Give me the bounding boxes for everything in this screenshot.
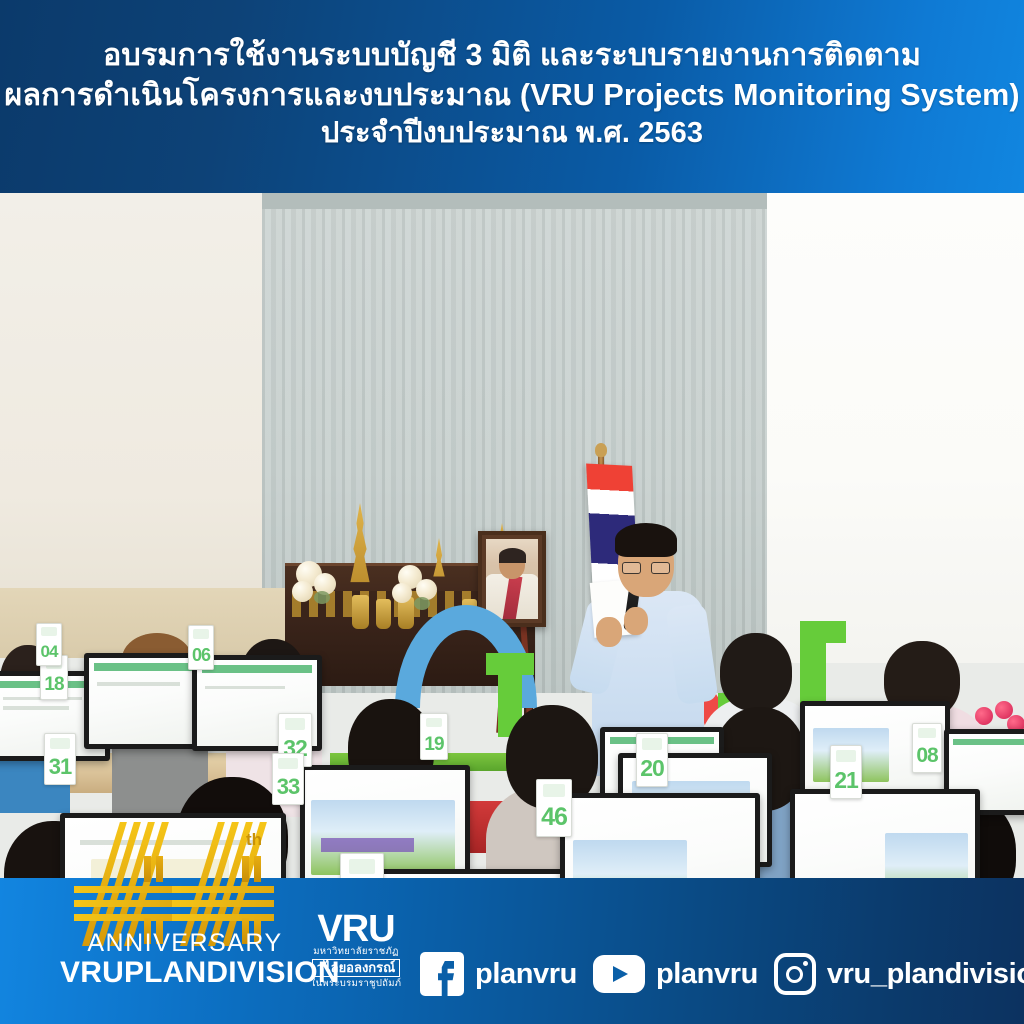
station-number-tag: 31: [44, 733, 76, 785]
screen-header-bar: [202, 665, 312, 673]
gold-offering-vessel: [376, 599, 391, 629]
flag-pole-finial: [595, 443, 607, 457]
foliage: [414, 597, 430, 610]
eyeglass-lens: [622, 562, 641, 574]
social-facebook[interactable]: planvru: [420, 952, 577, 996]
royal-portrait-image: [486, 539, 538, 619]
flower-bouquet: [292, 581, 313, 602]
header-title-line2: ผลการดำเนินโครงการและงบประมาณ (VRU Proje…: [4, 76, 1019, 116]
anniversary-label: ANNIVERSARY: [60, 930, 310, 957]
event-poster: อบรมการใช้งานระบบบัญชี 3 มิติ และระบบราย…: [0, 0, 1024, 1024]
computer-monitor: [790, 789, 980, 885]
station-number-tag: 46: [536, 779, 572, 837]
screen-text-line: [3, 706, 69, 709]
back-wall: [0, 193, 270, 623]
screen-text-line: [97, 682, 180, 685]
attendee-head: [720, 633, 792, 711]
vru-acronym: VRU: [300, 912, 412, 946]
vru-university-thai: มหาวิทยาลัยราชภัฏ: [300, 946, 412, 958]
station-number-tag: 33: [272, 753, 304, 805]
poster-header: อบรมการใช้งานระบบบัญชี 3 มิติ และระบบราย…: [0, 0, 1024, 193]
tag-clip: [836, 750, 855, 761]
decor-letter-green: [800, 621, 846, 643]
station-number: 33: [277, 774, 299, 800]
station-number-tag: 19: [420, 713, 448, 760]
station-number-tag: 08: [912, 723, 942, 773]
tag-clip: [349, 859, 376, 874]
projector-screen: [760, 193, 1024, 663]
screen-header-bar: [953, 739, 1024, 746]
screen-graphic: [321, 838, 414, 852]
anniversary-ordinal-suffix: th: [246, 830, 262, 850]
screen-text-line: [205, 686, 284, 689]
station-number-tag: 21: [830, 745, 862, 799]
youtube-icon[interactable]: [593, 955, 645, 993]
social-instagram[interactable]: vru_plandivision: [774, 953, 1024, 995]
vru-name-thai: วไลยอลงกรณ์: [312, 959, 400, 977]
tag-clip: [278, 758, 297, 769]
station-number: 08: [916, 744, 937, 768]
station-number-tag: 06: [188, 625, 214, 670]
instagram-icon[interactable]: [774, 953, 816, 995]
header-title-line1: อบรมการใช้งานระบบบัญชี 3 มิติ และระบบราย…: [103, 36, 921, 76]
social-youtube[interactable]: planvru: [593, 955, 758, 993]
facebook-icon[interactable]: [420, 952, 464, 996]
vru-patronage-thai: ในพระบรมราชูปถัมภ์: [300, 978, 412, 990]
station-number: 21: [834, 767, 858, 794]
event-photograph: 18 04 06 31 32 33 46 20: [0, 193, 1024, 885]
header-title-line3: ประจำปีงบประมาณ พ.ศ. 2563: [321, 115, 703, 153]
anniversary-wordmark: ANNIVERSARY VRUPLANDIVISION: [60, 930, 310, 988]
computer-monitor: [300, 765, 470, 885]
speaker-hair: [615, 523, 677, 557]
tag-clip: [285, 718, 305, 729]
monitor-screen: [795, 794, 975, 885]
monitor-screen: [305, 770, 465, 884]
station-number: 06: [192, 645, 210, 666]
station-number: 20: [640, 755, 664, 782]
station-number: 04: [41, 642, 58, 662]
station-number: 18: [44, 674, 63, 696]
facebook-handle[interactable]: planvru: [475, 958, 577, 991]
tag-clip: [426, 718, 443, 728]
speaker-hand-right: [624, 607, 648, 635]
social-links: planvru planvru vru_plandivision: [420, 948, 1024, 1000]
decor-letter-green: [486, 653, 534, 675]
tag-clip: [193, 629, 208, 638]
computer-monitor: [560, 793, 760, 885]
screen-header-bar: [94, 663, 203, 671]
anniversary-logo: th ANNIVERSARY VRUPLANDIVISION: [60, 808, 310, 1008]
tag-clip: [41, 627, 56, 636]
speaker-hand-left: [596, 617, 622, 647]
tag-clip: [50, 738, 69, 749]
monitor-screen: [89, 658, 207, 744]
youtube-handle[interactable]: planvru: [656, 958, 758, 991]
gold-offering-vessel: [352, 595, 369, 629]
portrait-figure-hair: [499, 548, 526, 563]
tag-clip: [918, 728, 936, 739]
station-number: 31: [49, 754, 71, 780]
curtain-rail: [262, 193, 767, 209]
station-number: 19: [424, 734, 443, 756]
station-number-tag: 20: [636, 733, 668, 787]
station-number-tag: 04: [36, 623, 62, 666]
foliage: [314, 591, 330, 604]
eyeglass-lens: [651, 562, 670, 574]
flower-bouquet: [392, 583, 412, 603]
eyeglasses: [622, 562, 670, 574]
instagram-handle[interactable]: vru_plandivision: [827, 958, 1024, 991]
vru-logo: VRU มหาวิทยาลัยราชภัฏ วไลยอลงกรณ์ ในพระบ…: [300, 912, 412, 1004]
tag-clip: [642, 738, 661, 749]
division-name: VRUPLANDIVISION: [60, 957, 310, 989]
station-number: 46: [541, 803, 567, 832]
monitor-screen: [565, 798, 755, 885]
tag-clip: [543, 784, 565, 796]
